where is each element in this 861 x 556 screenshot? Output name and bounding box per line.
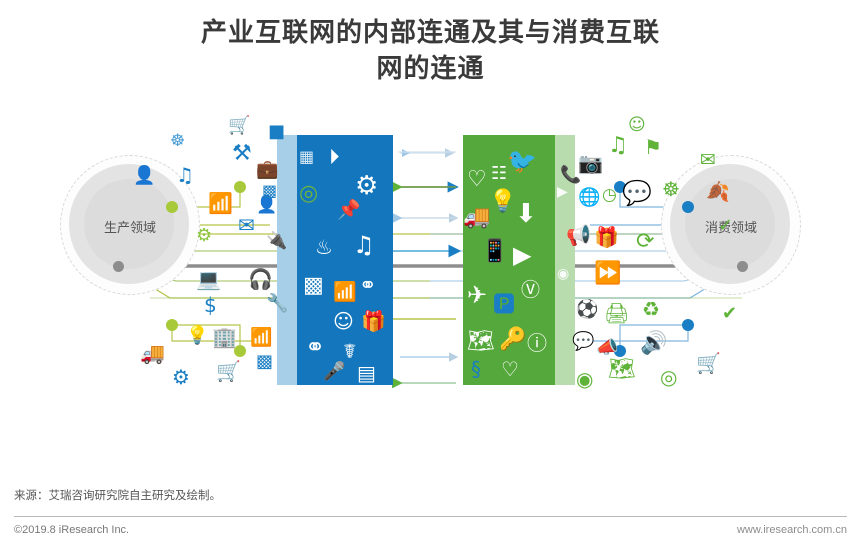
gear-icon: ⚙ bbox=[172, 367, 190, 387]
mobile-share-icon: 📱 bbox=[481, 241, 508, 263]
mail-icon: ✉ bbox=[238, 215, 255, 235]
airplane-icon: ✈ bbox=[467, 283, 487, 307]
equalizer-small-icon: ▩ bbox=[262, 183, 277, 199]
chat-small-icon: 💬 bbox=[572, 333, 594, 351]
pin-icon: 📌 bbox=[337, 201, 361, 220]
leaf-icon: 🍂 bbox=[706, 183, 730, 202]
dribbble-icon: ⚽ bbox=[576, 301, 598, 319]
megaphone-icon: 📣 bbox=[596, 339, 618, 357]
refresh-icon: ⟳ bbox=[636, 231, 654, 253]
printer-icon: 🖨 bbox=[604, 303, 629, 323]
lifebuoy-icon: ☸ bbox=[170, 133, 185, 150]
heart-outline-icon: ♡ bbox=[501, 359, 519, 379]
industrial-internet-panel: ⏵ ⚙ ◎ 📌 ♨ ♫ ▩ 📶 ⚭ ☺ 🎁 ⚭ ☤ ▤ 🎤 ▦ bbox=[297, 135, 393, 385]
recycle-icon: ♻ bbox=[642, 299, 660, 319]
gear-icon: ⚙ bbox=[355, 173, 378, 199]
rss-small-icon: 📶 bbox=[250, 329, 272, 347]
qr-code-icon: ▦ bbox=[299, 149, 314, 165]
headset-icon: 🎧 bbox=[248, 269, 273, 289]
production-node-outer-top bbox=[234, 181, 246, 193]
parking-icon: 🅿 bbox=[493, 295, 515, 317]
truck-icon: 🚚 bbox=[140, 343, 165, 363]
sliders-icon: ⚙ bbox=[196, 227, 212, 245]
question-circle-icon: ☤ bbox=[343, 341, 356, 361]
megaphone-left-icon: 📢 bbox=[566, 225, 591, 245]
chat-bubbles-icon: 💬 bbox=[622, 181, 652, 205]
mail-diamond-icon: ✉ bbox=[700, 151, 716, 170]
info-circle-icon: ⓘ bbox=[527, 333, 547, 353]
music-note-icon: ♫ bbox=[608, 135, 628, 157]
heart-icon: ♡ bbox=[467, 169, 487, 191]
play-button-icon: ▶ bbox=[513, 243, 531, 267]
consumption-hub-node bbox=[737, 261, 748, 272]
page-title: 产业互联网的内部连通及其与消费互联 网的连通 bbox=[0, 14, 861, 86]
consumer-internet-panel: 🐦 ♡ ☷ 💡 🚚 ⬇ ▶ 📱 ✈ Ⓥ 🅿 🗺 🔑 ⓘ § ♡ bbox=[463, 135, 555, 385]
twitter-bird-icon: 🐦 bbox=[507, 149, 537, 173]
network-nodes-icon: ⚭ bbox=[305, 335, 325, 359]
phone-icon: 📞 bbox=[560, 167, 581, 184]
truck-icon: 🚚 bbox=[463, 207, 490, 229]
flag-icon: ⚑ bbox=[644, 137, 662, 157]
wifi-icon: 📶 bbox=[333, 283, 357, 302]
website-url[interactable]: www.iresearch.com.cn bbox=[737, 524, 847, 536]
gift-icon: 🎁 bbox=[361, 311, 386, 331]
microphone-icon: 🎤 bbox=[323, 363, 345, 381]
head-brain-icon: ⚭ bbox=[359, 275, 377, 296]
production-domain-label: 生产领域 bbox=[60, 217, 200, 236]
gold-bars-icon: ■ bbox=[268, 123, 285, 141]
user-support-icon: ☺ bbox=[333, 311, 354, 331]
plug-icon: 🔌 bbox=[266, 233, 287, 250]
globe-icon: 🌐 bbox=[578, 189, 600, 207]
consumption-node-bottom bbox=[682, 319, 694, 331]
production-hub-node bbox=[113, 261, 124, 272]
record-small-icon: ◉ bbox=[557, 267, 569, 281]
bar-chart-icon: ▩ bbox=[303, 275, 324, 297]
camera-icon: 📷 bbox=[578, 153, 603, 173]
dollar-icon: $ bbox=[204, 295, 217, 315]
smiley-icon: ☺ bbox=[628, 117, 646, 134]
speaker-icon: 🔊 bbox=[640, 333, 667, 355]
consumption-node-top bbox=[682, 201, 694, 213]
first-aid-icon: 💼 bbox=[256, 161, 278, 179]
fast-forward-icon: ⏩ bbox=[594, 263, 621, 285]
monitor-icon: ▤ bbox=[357, 363, 376, 383]
key-icon: 🔑 bbox=[499, 329, 526, 351]
clock-icon: ◷ bbox=[602, 187, 617, 204]
rss-icon: 📶 bbox=[208, 193, 233, 213]
diagram-figure: 生产领域 消费领域 ⏵ ⚙ ◎ 📌 ♨ ♫ ▩ bbox=[0, 105, 861, 465]
footer-divider bbox=[14, 516, 847, 517]
robot-arm-icon: ⚒ bbox=[232, 143, 252, 165]
upload-arrow-icon: ⏵ bbox=[329, 147, 340, 168]
production-node-bottom bbox=[166, 319, 178, 331]
vimeo-icon: Ⓥ bbox=[521, 281, 540, 300]
cart-box-icon: 🛒 bbox=[228, 117, 250, 135]
slide-page: 产业互联网的内部连通及其与消费互联 网的连通 bbox=[0, 0, 861, 556]
page-title-line-1: 产业互联网的内部连通及其与消费互联 bbox=[0, 14, 861, 50]
id-card-icon: 👤 bbox=[133, 167, 155, 185]
panflute-icon: ♫ bbox=[353, 233, 375, 257]
check-circle-icon: ✓ bbox=[718, 217, 733, 235]
gift-icon: 🎁 bbox=[594, 227, 619, 247]
page-title-line-2: 网的连通 bbox=[0, 50, 861, 86]
cart-push-icon: 🛒 bbox=[216, 361, 241, 381]
factory-icon: 🏢 bbox=[212, 327, 237, 347]
shopping-cart-icon: 🛒 bbox=[696, 353, 721, 373]
production-node-top bbox=[166, 201, 178, 213]
laptop-chart-icon: 💻 bbox=[196, 269, 221, 289]
wrench-icon: 🔧 bbox=[266, 295, 288, 313]
lifebuoy-icon: ☸ bbox=[662, 179, 680, 199]
record-outline-icon: ◎ bbox=[660, 367, 677, 387]
download-arrow-icon: ⬇ bbox=[515, 201, 537, 227]
flashlight-icon: 💡 bbox=[186, 327, 208, 345]
source-note: 来源：艾瑞咨询研究院自主研究及绘制。 bbox=[14, 487, 221, 503]
binoculars-icon: ☷ bbox=[491, 165, 507, 183]
equalizer-icon: ▩ bbox=[256, 353, 273, 371]
map-icon: 🗺 bbox=[467, 331, 495, 353]
copyright-text: ©2019.8 iResearch Inc. bbox=[14, 524, 129, 536]
panflute-icon: ♫ bbox=[176, 165, 194, 185]
lightbulb-check-icon: 💡 bbox=[489, 191, 516, 213]
play-small-icon: ▶ bbox=[557, 185, 568, 199]
industrial-internet-panel-strip bbox=[277, 135, 297, 385]
check-badge-icon: ✔ bbox=[722, 305, 737, 323]
map-icon: 🗺 bbox=[608, 359, 636, 381]
record-icon: ◉ bbox=[576, 369, 593, 389]
paragraph-icon: § bbox=[471, 359, 481, 379]
antenna-icon: ♨ bbox=[315, 237, 333, 257]
target-icon: ◎ bbox=[299, 183, 318, 205]
